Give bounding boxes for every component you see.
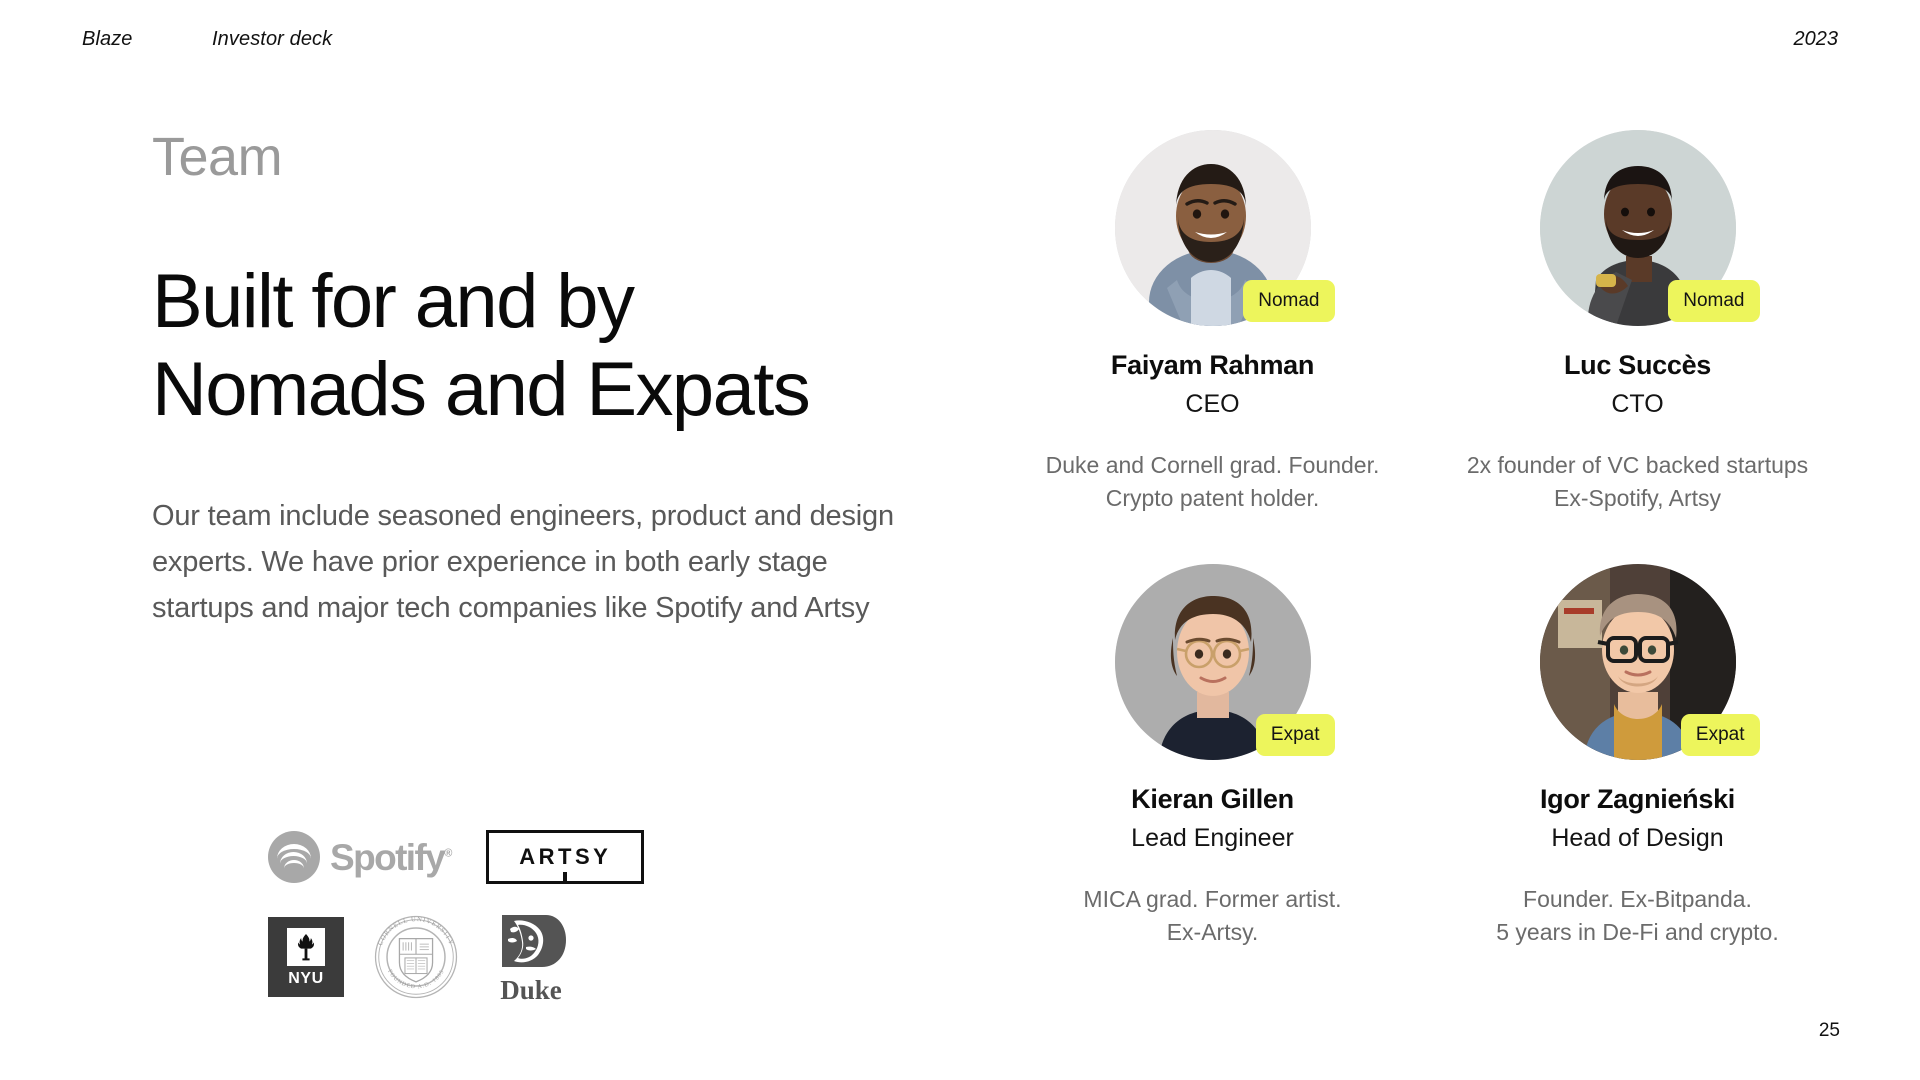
team-row: Expat Kieran Gillen Lead Engineer MICA g… [1000, 564, 1850, 948]
artsy-wordmark: ARTSY [519, 846, 611, 868]
spotify-wordmark: Spotify [330, 837, 444, 878]
nyu-torch-icon [287, 928, 325, 966]
member-role: CTO [1611, 382, 1663, 419]
page-title: Built for and by Nomads and Expats [152, 184, 912, 434]
slide-header: Blaze Investor deck 2023 [0, 0, 1920, 80]
avatar-wrapper: Expat [1540, 564, 1736, 760]
duke-logo: Duke [488, 909, 574, 1005]
team-member-card[interactable]: Nomad Faiyam Rahman CEO Duke and Cornell… [1000, 130, 1425, 514]
avatar-wrapper: Nomad [1115, 130, 1311, 326]
intro-paragraph: Our team include seasoned engineers, pro… [152, 434, 897, 631]
member-bio: Duke and Cornell grad. Founder. Crypto p… [1046, 419, 1380, 514]
member-bio: Founder. Ex-Bitpanda. 5 years in De-Fi a… [1496, 853, 1779, 948]
member-role: Head of Design [1551, 816, 1723, 853]
status-badge: Expat [1256, 714, 1335, 756]
member-name: Kieran Gillen [1131, 760, 1294, 816]
spotify-icon [268, 831, 320, 883]
member-bio: 2x founder of VC backed startups Ex-Spot… [1467, 419, 1808, 514]
deck-label: Investor deck [212, 28, 332, 51]
team-row: Nomad Faiyam Rahman CEO Duke and Cornell… [1000, 130, 1850, 514]
member-name: Luc Succès [1564, 326, 1711, 382]
avatar-wrapper: Expat [1115, 564, 1311, 760]
team-member-card[interactable]: Expat Kieran Gillen Lead Engineer MICA g… [1000, 564, 1425, 948]
avatar-wrapper: Nomad [1540, 130, 1736, 326]
member-bio: MICA grad. Former artist. Ex-Artsy. [1083, 853, 1341, 948]
logo-wall: Spotify® ARTSY NYU [268, 822, 688, 1009]
status-badge: Expat [1681, 714, 1760, 756]
nyu-wordmark: NYU [288, 971, 324, 987]
member-role: Lead Engineer [1131, 816, 1294, 853]
team-member-card[interactable]: Nomad Luc Succès CTO 2x founder of VC ba… [1425, 130, 1850, 514]
section-eyebrow: Team [152, 130, 912, 184]
status-badge: Nomad [1243, 280, 1334, 322]
spotify-trademark-icon: ® [444, 847, 452, 859]
nyu-logo: NYU [268, 917, 344, 997]
logo-row-companies: Spotify® ARTSY [268, 822, 688, 892]
left-column: Team Built for and by Nomads and Expats … [152, 130, 912, 632]
year-label: 2023 [1794, 28, 1839, 51]
status-badge: Nomad [1668, 280, 1759, 322]
member-name: Faiyam Rahman [1111, 326, 1314, 382]
spotify-logo: Spotify® [268, 831, 452, 883]
duke-wordmark: Duke [500, 975, 562, 1005]
team-member-card[interactable]: Expat Igor Zagnieński Head of Design Fou… [1425, 564, 1850, 948]
page-number: 25 [1819, 1020, 1840, 1042]
cornell-logo: CORNELL UNIVERSITY FOUNDED A.D. 1865 [370, 911, 462, 1003]
member-name: Igor Zagnieński [1540, 760, 1735, 816]
logo-row-universities: NYU CORNELL UNIVERSITY FOUNDED A.D. 1865 [268, 904, 688, 1009]
brand-name: Blaze [82, 28, 133, 51]
member-role: CEO [1185, 382, 1239, 419]
team-grid: Nomad Faiyam Rahman CEO Duke and Cornell… [1000, 130, 1850, 948]
artsy-logo: ARTSY [486, 830, 644, 884]
